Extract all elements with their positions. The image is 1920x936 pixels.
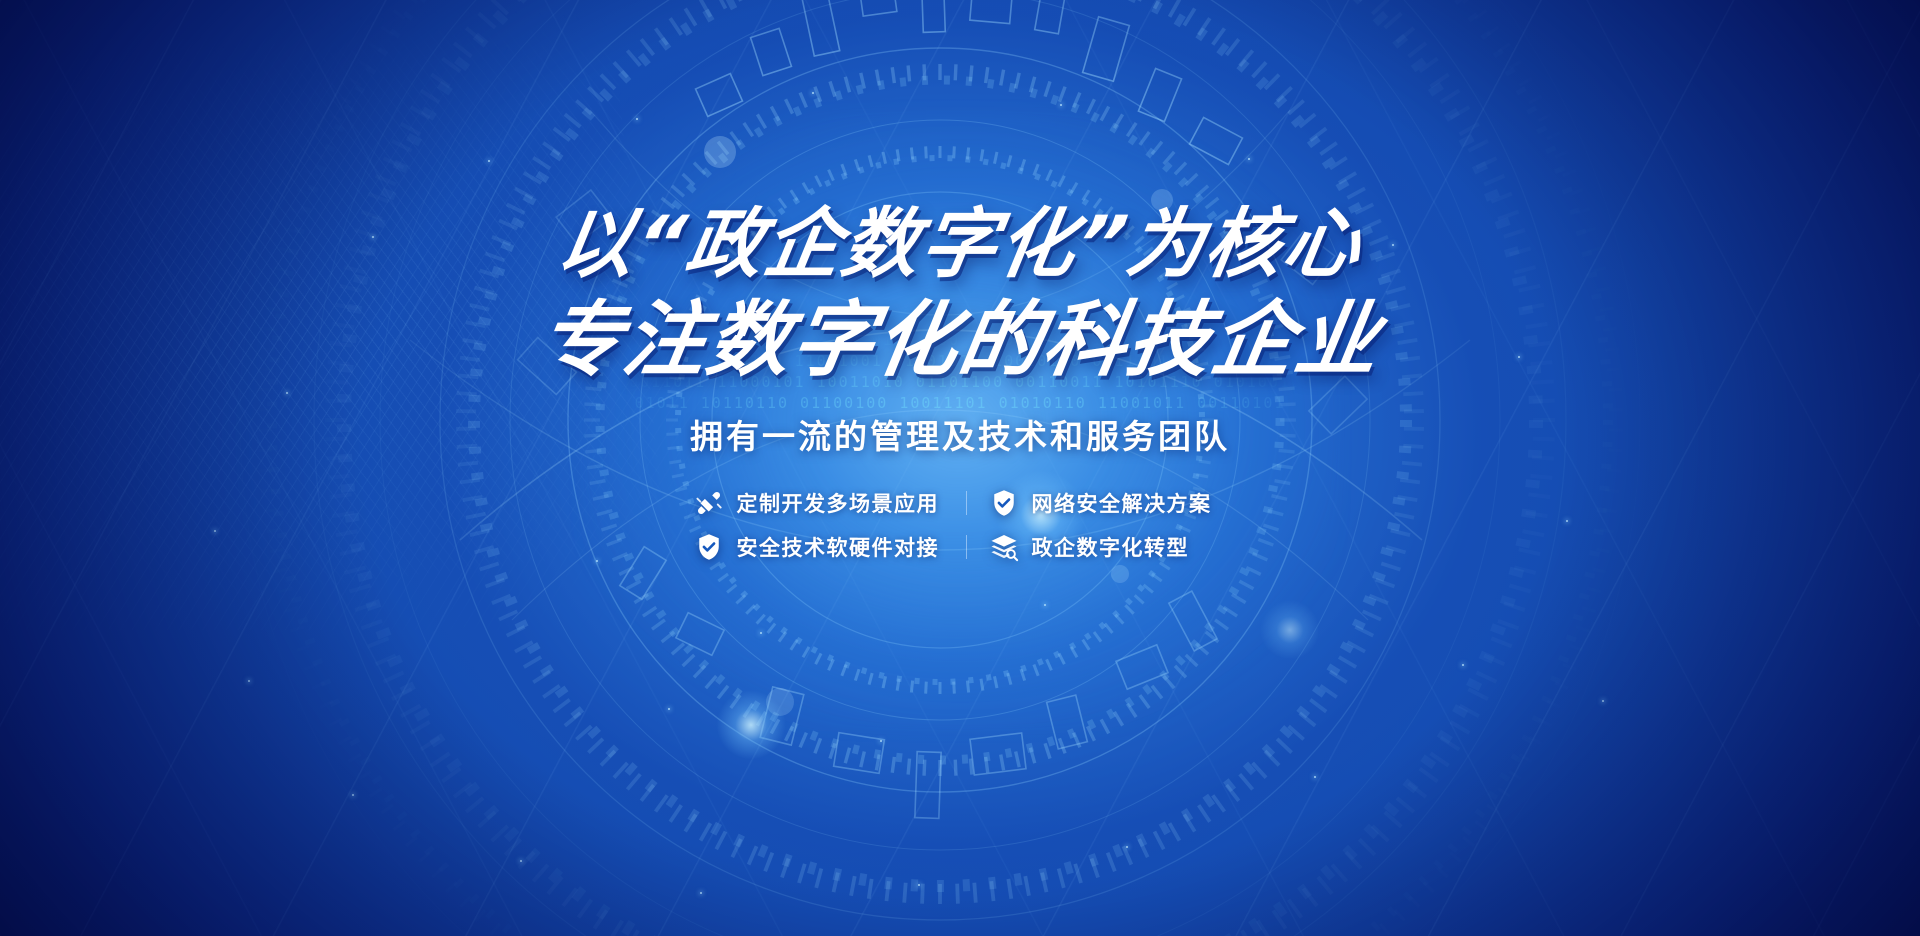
feature-label: 网络安全解决方案 [1032, 488, 1212, 518]
feature-label: 安全技术软硬件对接 [737, 532, 940, 562]
feature-label: 定制开发多场景应用 [737, 488, 940, 518]
feature-item-custom-development[interactable]: 定制开发多场景应用 [694, 488, 944, 518]
headline-line-2: 专注数字化的科技企业 [534, 300, 1387, 382]
feature-divider [966, 491, 967, 515]
banner-subtitle: 拥有一流的管理及技术和服务团队 [690, 410, 1230, 458]
headline-line-1: 以“政企数字化”为核心 [552, 206, 1368, 282]
feature-label: 政企数字化转型 [1032, 532, 1190, 562]
shield-check-icon [694, 532, 724, 562]
hero-banner: 10110100 01101001 00110101 11001010 0101… [0, 0, 1920, 936]
shield-check-icon [989, 488, 1019, 518]
feature-item-network-security[interactable]: 网络安全解决方案 [989, 488, 1227, 518]
feature-list: 定制开发多场景应用 网络安全解决方案 [694, 488, 1227, 562]
banner-content: 以“政企数字化”为核心 专注数字化的科技企业 拥有一流的管理及技术和服务团队 定… [0, 0, 1920, 936]
layers-search-icon [989, 532, 1019, 562]
feature-item-digital-transformation[interactable]: 政企数字化转型 [989, 532, 1227, 562]
feature-row-2: 安全技术软硬件对接 政企数字化转型 [694, 532, 1227, 562]
plug-connect-icon [694, 488, 724, 518]
feature-item-security-integration[interactable]: 安全技术软硬件对接 [694, 532, 944, 562]
feature-row-1: 定制开发多场景应用 网络安全解决方案 [694, 488, 1227, 518]
feature-divider [966, 535, 967, 559]
